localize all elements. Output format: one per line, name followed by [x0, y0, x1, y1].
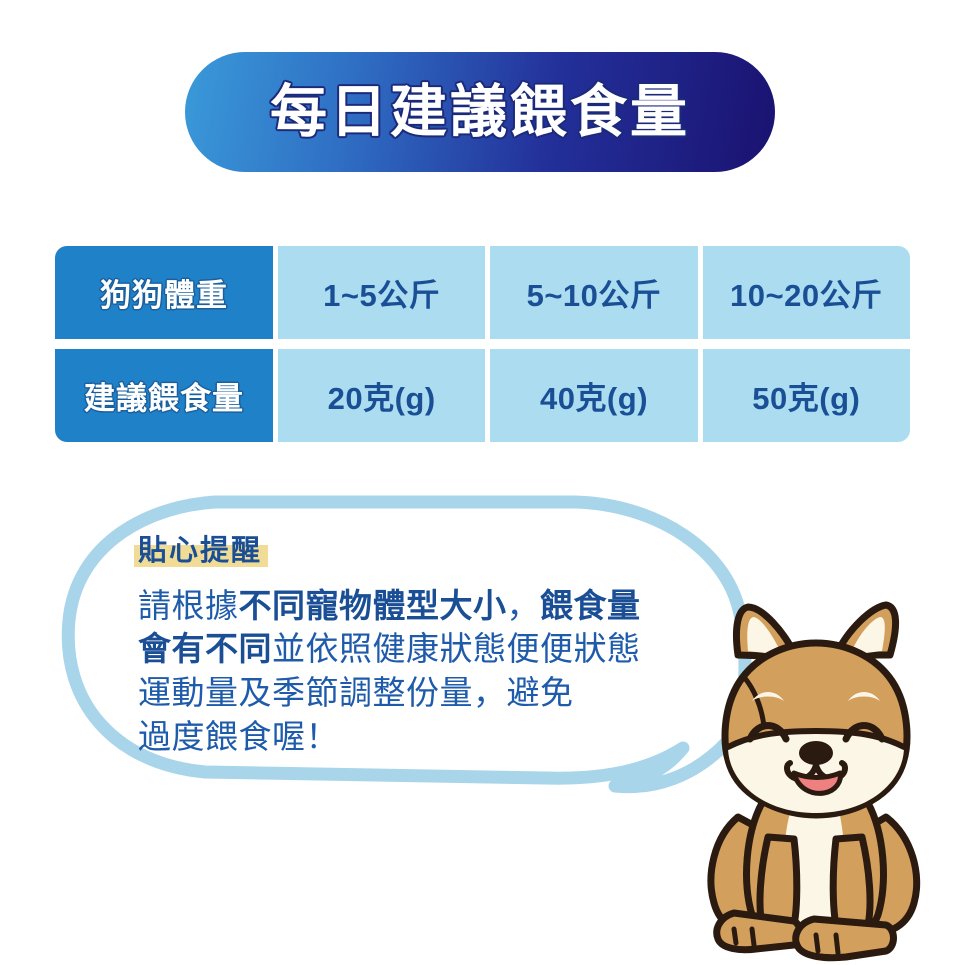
shiba-dog-icon	[690, 585, 960, 965]
tip-line2-bold: 會有不同	[138, 630, 272, 667]
tip-content: 貼心提醒 請根據不同寵物體型大小，餵食量 會有不同並依照健康狀態便便狀態 運動量…	[138, 536, 698, 758]
feeding-amount-table: 狗狗體重 1~5公斤 5~10公斤 10~20公斤 建議餵食量 20克(g) 4…	[55, 246, 910, 442]
table-cell-weight-2: 5~10公斤	[490, 246, 697, 339]
table-cell-weight-3: 10~20公斤	[703, 246, 910, 339]
tip-body-line-3: 運動量及季節調整份量，避免	[138, 671, 698, 715]
tip-body-line-1: 請根據不同寵物體型大小，餵食量	[138, 584, 698, 628]
tip-line1-comma: ，	[507, 587, 541, 624]
tip-body-line-2: 會有不同並依照健康狀態便便狀態	[138, 627, 698, 671]
table-row: 建議餵食量 20克(g) 40克(g) 50克(g)	[55, 349, 910, 442]
table-row-header-weight: 狗狗體重	[55, 246, 273, 339]
tip-line1-bold-b: 餵食量	[540, 587, 641, 624]
tip-heading-wrap: 貼心提醒	[138, 536, 262, 568]
tip-heading: 貼心提醒	[138, 536, 262, 568]
tip-line1-bold: 不同寵物體型大小	[239, 587, 507, 624]
page-title: 每日建議餵食量	[270, 84, 690, 141]
title-banner: 每日建議餵食量	[185, 52, 775, 172]
tip-line2-normal: 並依照健康狀態便便狀態	[272, 630, 641, 667]
table-cell-amount-3: 50克(g)	[703, 349, 910, 442]
tip-body: 請根據不同寵物體型大小，餵食量 會有不同並依照健康狀態便便狀態 運動量及季節調整…	[138, 584, 698, 758]
table-cell-amount-2: 40克(g)	[490, 349, 697, 442]
table-cell-amount-1: 20克(g)	[278, 349, 485, 442]
table-cell-weight-1: 1~5公斤	[278, 246, 485, 339]
table-row-header-amount: 建議餵食量	[55, 349, 273, 442]
tip-line1-a: 請根據	[138, 587, 239, 624]
tip-body-line-4: 過度餵食喔！	[138, 715, 698, 759]
table-row: 狗狗體重 1~5公斤 5~10公斤 10~20公斤	[55, 246, 910, 339]
